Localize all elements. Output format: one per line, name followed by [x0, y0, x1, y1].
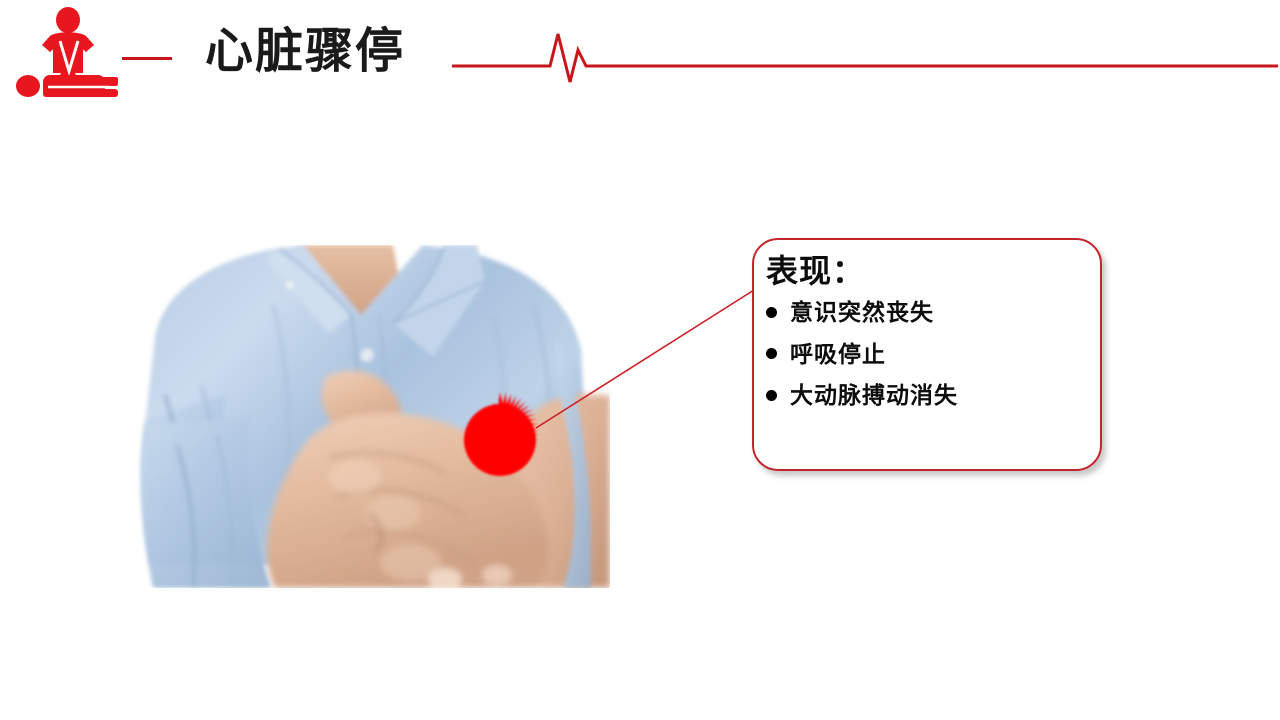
ecg-heartbeat-line-icon	[450, 20, 1280, 90]
bullet-dot-icon	[766, 390, 777, 401]
symptom-label: 意识突然丧失	[790, 299, 934, 325]
list-item: 呼吸停止	[766, 341, 1090, 367]
list-item: 意识突然丧失	[766, 299, 1090, 325]
title-divider-dash	[122, 57, 172, 60]
symptoms-callout-box: 表现： 意识突然丧失 呼吸停止 大动脉搏动消失	[752, 238, 1102, 471]
red-starburst-pain-marker	[450, 390, 550, 490]
symptom-list: 意识突然丧失 呼吸停止 大动脉搏动消失	[766, 299, 1090, 408]
symptom-label: 大动脉搏动消失	[790, 382, 958, 408]
cpr-compression-icon	[10, 5, 130, 105]
bullet-dot-icon	[766, 348, 777, 359]
bullet-dot-icon	[766, 307, 777, 318]
callout-content: 表现： 意识突然丧失 呼吸停止 大动脉搏动消失	[766, 254, 1090, 409]
page-title: 心脏骤停	[205, 28, 405, 76]
symptom-label: 呼吸停止	[790, 341, 886, 367]
list-item: 大动脉搏动消失	[766, 382, 1090, 408]
slide-header: 心脏骤停	[0, 0, 1280, 130]
callout-heading: 表现：	[766, 254, 1090, 289]
slide-canvas: 心脏骤停	[0, 0, 1280, 720]
